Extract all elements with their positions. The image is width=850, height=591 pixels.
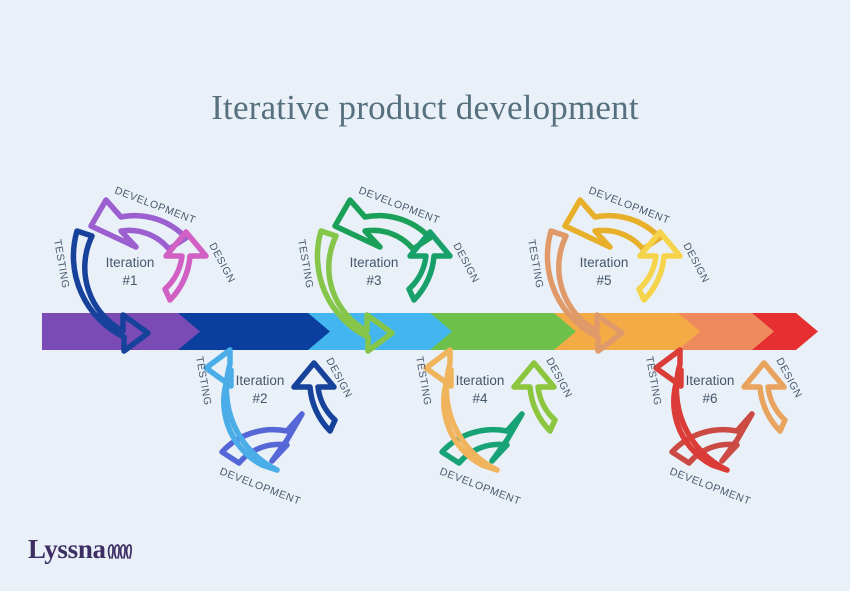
brand-name: Lyssna (28, 536, 106, 563)
iteration-1-label-design: DESIGN (206, 241, 237, 285)
iteration-4-testing-arrow (426, 350, 497, 470)
iteration-2-title-line2: #2 (252, 391, 267, 406)
iteration-6-testing-arrow (656, 350, 727, 470)
iteration-5-title-line2: #5 (596, 273, 611, 288)
iteration-2-label-development: DEVELOPMENT (218, 466, 303, 508)
iteration-5-design-arrow (639, 232, 680, 300)
brand-logo: Lyssna (28, 536, 133, 563)
iteration-5-label-testing: TESTING (525, 238, 545, 289)
iteration-1-design-arrow (165, 232, 206, 300)
iteration-4-label-development: DEVELOPMENT (438, 466, 523, 508)
iteration-3-label-testing: TESTING (295, 238, 315, 289)
chevron-timeline-band (42, 313, 818, 350)
iteration-3-title-line1: Iteration (350, 255, 399, 270)
iteration-cycle-4[interactable]: Iteration #4 DEVELOPMENT DESIGN TESTING (413, 350, 574, 508)
page-title: Iterative product development (0, 88, 850, 128)
iteration-2-title-line1: Iteration (236, 373, 285, 388)
iteration-3-title-line2: #3 (366, 273, 381, 288)
iteration-6-title-line2: #6 (702, 391, 717, 406)
iteration-4-title-line2: #4 (472, 391, 488, 406)
iteration-3-design-arrow (409, 232, 450, 300)
iteration-1-title-line1: Iteration (106, 255, 155, 270)
soundwave-mark (107, 541, 133, 561)
iteration-4-title-line1: Iteration (456, 373, 505, 388)
iteration-2-testing-arrow (206, 350, 277, 470)
iteration-1-title-line2: #1 (122, 273, 137, 288)
iteration-6-label-development: DEVELOPMENT (668, 466, 753, 508)
iteration-1-label-testing: TESTING (51, 238, 71, 289)
iteration-6-title-line1: Iteration (686, 373, 735, 388)
iteration-cycle-6[interactable]: Iteration #6 DEVELOPMENT DESIGN TESTING (643, 350, 804, 508)
iteration-3-label-design: DESIGN (450, 241, 481, 285)
iteration-cycle-2[interactable]: Iteration #2 DEVELOPMENT DESIGN TESTING (193, 350, 354, 508)
iteration-5-title-line1: Iteration (580, 255, 629, 270)
iteration-5-label-design: DESIGN (680, 241, 711, 285)
